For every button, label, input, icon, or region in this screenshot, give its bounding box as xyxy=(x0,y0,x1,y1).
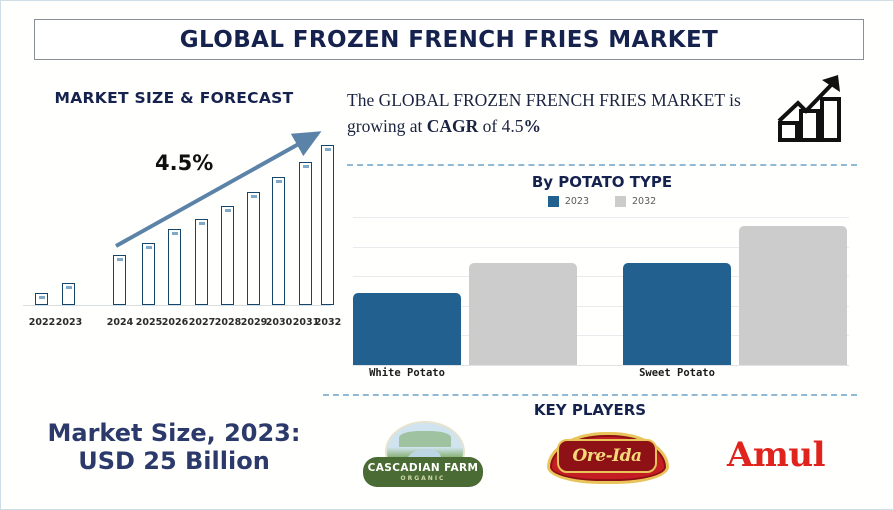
forecast-bar-cap xyxy=(66,286,72,289)
page-title: GLOBAL FROZEN FRENCH FRIES MARKET xyxy=(180,27,718,53)
cascadian-farm-name: CASCADIAN FARM xyxy=(368,462,479,474)
forecast-bar xyxy=(247,192,260,305)
potato-type-legend: 20232032 xyxy=(347,196,857,207)
logo-cascadian-farm: CASCADIAN FARM ORGANIC xyxy=(363,421,483,489)
ore-ida-inner: Ore-Ida xyxy=(557,439,657,473)
potato-type-axis xyxy=(353,365,849,366)
cagr-statement-part1: The GLOBAL FROZEN FRENCH FRIES MARKET is… xyxy=(347,90,741,136)
legend-item: 2023 xyxy=(548,196,589,207)
divider-top xyxy=(347,164,857,166)
forecast-bar-cap xyxy=(199,222,205,225)
forecast-bar xyxy=(113,255,126,305)
market-size-forecast-heading: MARKET SIZE & FORECAST xyxy=(13,89,335,107)
forecast-bar-cap xyxy=(39,296,45,299)
forecast-bar-cap xyxy=(172,232,178,235)
potato-bar xyxy=(469,263,577,365)
market-size-forecast-panel: MARKET SIZE & FORECAST 4.5% 202220232024… xyxy=(13,81,335,396)
forecast-bar xyxy=(168,229,181,305)
logo-ore-ida: Ore-Ida xyxy=(547,428,663,482)
key-players-title: KEY PLAYERS xyxy=(323,401,857,419)
legend-swatch xyxy=(615,196,626,207)
legend-swatch xyxy=(548,196,559,207)
forecast-bar-cap xyxy=(251,195,257,198)
forecast-bar xyxy=(272,177,285,305)
cagr-statement-part2: of 4.5 xyxy=(478,116,523,136)
forecast-bar xyxy=(195,219,208,305)
market-size-callout: Market Size, 2023: USD 25 Billion xyxy=(13,419,335,476)
market-size-line-2: USD 25 Billion xyxy=(13,447,335,475)
potato-type-x-labels: White PotatoSweet Potato xyxy=(353,367,849,383)
forecast-baseline xyxy=(23,305,331,306)
legend-label: 2032 xyxy=(632,196,656,207)
market-size-line-1: Market Size, 2023: xyxy=(13,419,335,447)
legend-item: 2032 xyxy=(615,196,656,207)
forecast-bar-cap xyxy=(225,209,231,212)
forecast-bar xyxy=(321,145,334,305)
forecast-bar xyxy=(221,206,234,305)
forecast-bar xyxy=(35,293,48,305)
forecast-bar-cap xyxy=(117,258,123,261)
potato-type-chart xyxy=(353,217,849,365)
growth-chart-icon xyxy=(776,73,852,143)
cascadian-farm-organic: ORGANIC xyxy=(401,475,446,482)
potato-x-label: Sweet Potato xyxy=(613,367,741,379)
forecast-bar xyxy=(299,162,312,305)
forecast-bar xyxy=(142,243,155,305)
forecast-x-label: 2023 xyxy=(52,317,86,328)
market-size-forecast-chart: 4.5% 20222023202420252026202720282029203… xyxy=(13,129,335,384)
potato-bar xyxy=(739,226,847,365)
potato-gridline xyxy=(353,217,849,218)
potato-type-title: By POTATO TYPE xyxy=(347,173,857,191)
cagr-statement-bold: CAGR xyxy=(427,116,479,136)
infographic-canvas: GLOBAL FROZEN FRENCH FRIES MARKET MARKET… xyxy=(0,0,894,510)
cagr-statement-percent: % xyxy=(523,116,541,136)
divider-bottom xyxy=(323,394,857,396)
cagr-statement: The GLOBAL FROZEN FRENCH FRIES MARKET is… xyxy=(347,87,747,140)
potato-bar xyxy=(623,263,731,365)
potato-x-label: White Potato xyxy=(343,367,471,379)
legend-label: 2023 xyxy=(565,196,589,207)
cascadian-farm-wordmark: CASCADIAN FARM ORGANIC xyxy=(363,457,483,487)
title-box: GLOBAL FROZEN FRENCH FRIES MARKET xyxy=(34,19,864,60)
forecast-x-label: 2032 xyxy=(311,317,345,328)
forecast-bars xyxy=(13,135,335,305)
forecast-bar-cap xyxy=(146,246,152,249)
potato-bar xyxy=(353,293,461,365)
key-players-logos: CASCADIAN FARM ORGANIC Ore-Ida Amul xyxy=(331,419,857,491)
forecast-bar-cap xyxy=(325,148,331,151)
forecast-bar-cap xyxy=(276,180,282,183)
forecast-bar-cap xyxy=(303,165,309,168)
logo-amul: Amul xyxy=(727,435,825,475)
ore-ida-wordmark: Ore-Ida xyxy=(573,446,642,466)
cascadian-mountain-shape xyxy=(399,431,451,447)
forecast-bar xyxy=(62,283,75,305)
